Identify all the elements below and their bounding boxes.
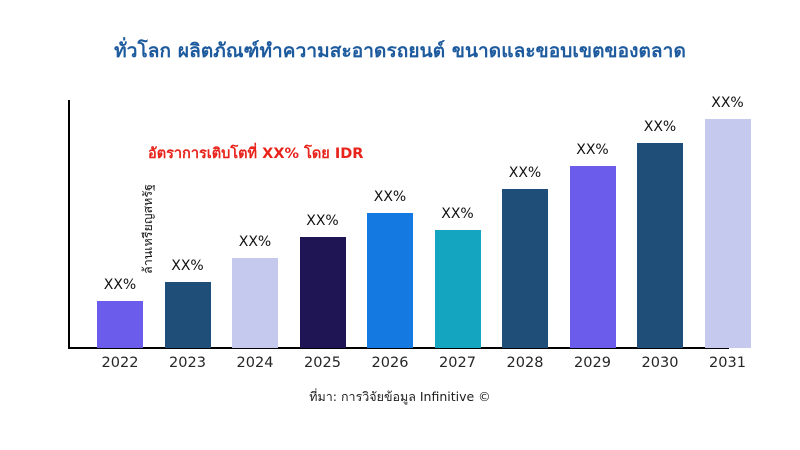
growth-rate-annotation: อัตราการเติบโตที่ XX% โดย IDR [148, 142, 363, 165]
bar-2024[interactable] [232, 258, 278, 348]
bar-2029[interactable] [570, 166, 616, 348]
source-note: ที่มา: การวิจัยข้อมูล Infinitive © [0, 387, 800, 407]
bar-2031[interactable] [705, 119, 751, 348]
bar-2022[interactable] [97, 301, 143, 348]
x-tick-2026: 2026 [353, 355, 427, 371]
bar-value-label-2031: XX% [691, 95, 765, 111]
bar-value-label-2030: XX% [623, 119, 697, 135]
x-tick-2028: 2028 [488, 355, 562, 371]
bar-2030[interactable] [637, 143, 683, 348]
x-tick-2030: 2030 [623, 355, 697, 371]
bar-2026[interactable] [367, 213, 413, 348]
bar-value-label-2022: XX% [83, 277, 157, 293]
x-tick-2024: 2024 [218, 355, 292, 371]
x-tick-2031: 2031 [691, 355, 765, 371]
bar-value-label-2023: XX% [151, 258, 225, 274]
x-tick-2029: 2029 [556, 355, 630, 371]
bar-2023[interactable] [165, 282, 211, 348]
x-tick-2022: 2022 [83, 355, 157, 371]
bar-value-label-2025: XX% [286, 213, 360, 229]
bar-value-label-2028: XX% [488, 165, 562, 181]
bar-value-label-2027: XX% [421, 206, 495, 222]
y-axis-label: ล้านเหรียญสหรัฐ [22, 0, 40, 118]
x-tick-2023: 2023 [151, 355, 225, 371]
bar-value-label-2029: XX% [556, 142, 630, 158]
bar-2028[interactable] [502, 189, 548, 348]
bar-value-label-2024: XX% [218, 234, 292, 250]
bar-2025[interactable] [300, 237, 346, 348]
bar-2027[interactable] [435, 230, 481, 348]
bar-chart: ทั่วโลก ผลิตภัณฑ์ทำความสะอาดรถยนต์ ขนาดแ… [0, 0, 800, 450]
x-tick-2025: 2025 [286, 355, 360, 371]
bar-value-label-2026: XX% [353, 189, 427, 205]
chart-title: ทั่วโลก ผลิตภัณฑ์ทำความสะอาดรถยนต์ ขนาดแ… [0, 36, 800, 66]
x-tick-2027: 2027 [421, 355, 495, 371]
